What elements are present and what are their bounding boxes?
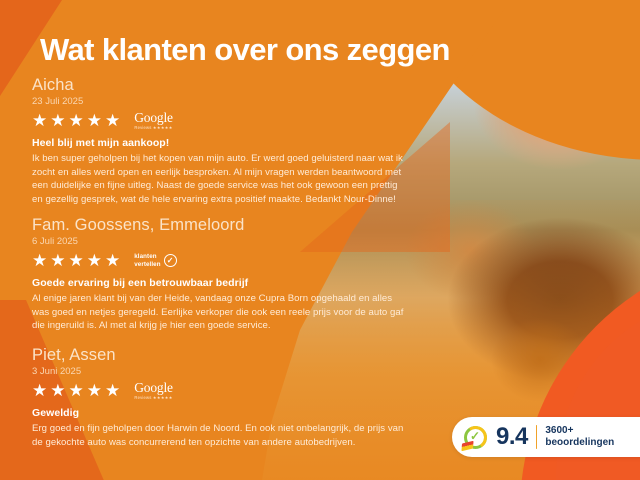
- klantenvertellen-wordmark: klanten vertellen: [134, 253, 160, 268]
- star-icon: ★: [69, 252, 84, 269]
- reviewer-name: Fam. Goossens, Emmeloord: [32, 216, 412, 235]
- star-icon: ★: [69, 112, 84, 129]
- star-rating: ★ ★ ★ ★ ★: [32, 252, 120, 269]
- rating-count: 3600+: [545, 425, 614, 437]
- review-card: Aicha 23 Juli 2025 ★ ★ ★ ★ ★ Google Revi…: [32, 76, 412, 206]
- check-icon: ✓: [470, 430, 480, 442]
- review-card: Fam. Goossens, Emmeloord 6 Juli 2025 ★ ★…: [32, 216, 412, 333]
- review-title: Heel blij met mijn aankoop!: [32, 137, 412, 150]
- google-reviews-sublabel: Reviews ★★★★★: [134, 396, 172, 400]
- review-title: Geweldig: [32, 407, 412, 420]
- google-reviews-sublabel: Reviews ★★★★★: [134, 126, 172, 130]
- review-date: 23 Juli 2025: [32, 96, 412, 108]
- star-icon: ★: [32, 382, 47, 399]
- google-wordmark: Google: [134, 111, 173, 125]
- star-icon: ★: [87, 252, 102, 269]
- star-icon: ★: [50, 382, 65, 399]
- star-rating: ★ ★ ★ ★ ★: [32, 112, 120, 129]
- google-reviews-logo: Google Reviews ★★★★★: [134, 111, 173, 130]
- page-title: Wat klanten over ons zeggen: [40, 32, 450, 68]
- star-icon: ★: [32, 112, 47, 129]
- star-icon: ★: [50, 112, 65, 129]
- review-meta: ★ ★ ★ ★ ★ Google Reviews ★★★★★: [32, 381, 412, 400]
- review-body: Ik ben super geholpen bij het kopen van …: [32, 152, 404, 206]
- review-meta: ★ ★ ★ ★ ★ klanten vertellen ✓: [32, 251, 412, 270]
- google-wordmark: Google: [134, 381, 173, 395]
- badge-divider: [536, 425, 538, 449]
- star-icon: ★: [87, 112, 102, 129]
- review-date: 3 Juni 2025: [32, 366, 412, 378]
- star-icon: ★: [105, 252, 120, 269]
- star-icon: ★: [69, 382, 84, 399]
- star-icon: ★: [32, 252, 47, 269]
- banner-stage: Wat klanten over ons zeggen Aicha 23 Jul…: [0, 0, 640, 480]
- rating-count-block: 3600+ beoordelingen: [545, 425, 614, 449]
- star-rating: ★ ★ ★ ★ ★: [32, 382, 120, 399]
- banner-content: Wat klanten over ons zeggen Aicha 23 Jul…: [0, 0, 640, 480]
- rating-score: 9.4: [496, 425, 528, 449]
- review-card: Piet, Assen 3 Juni 2025 ★ ★ ★ ★ ★ Google…: [32, 346, 412, 449]
- klantenvertellen-line1: klanten: [134, 253, 160, 261]
- checkmark-circle-icon: ✓: [164, 254, 177, 267]
- star-icon: ★: [87, 382, 102, 399]
- reviewer-name: Aicha: [32, 76, 412, 95]
- review-date: 6 Juli 2025: [32, 236, 412, 248]
- rating-count-label: beoordelingen: [545, 437, 614, 449]
- review-body: Al enige jaren klant bij van der Heide, …: [32, 292, 404, 333]
- review-meta: ★ ★ ★ ★ ★ Google Reviews ★★★★★: [32, 111, 412, 130]
- star-icon: ★: [105, 112, 120, 129]
- klantenvertellen-line2: vertellen: [134, 261, 160, 269]
- seal-ribbon-icon: [461, 440, 473, 450]
- reviewer-name: Piet, Assen: [32, 346, 412, 365]
- star-icon: ★: [50, 252, 65, 269]
- star-icon: ★: [105, 382, 120, 399]
- google-reviews-logo: Google Reviews ★★★★★: [134, 381, 173, 400]
- klantenvertellen-seal-icon: ✓: [463, 425, 488, 450]
- review-body: Erg goed en fijn geholpen door Harwin de…: [32, 422, 404, 449]
- rating-badge: ✓ 9.4 3600+ beoordelingen: [452, 417, 640, 457]
- klantenvertellen-logo: klanten vertellen ✓: [134, 253, 176, 268]
- review-title: Goede ervaring bij een betrouwbaar bedri…: [32, 277, 412, 290]
